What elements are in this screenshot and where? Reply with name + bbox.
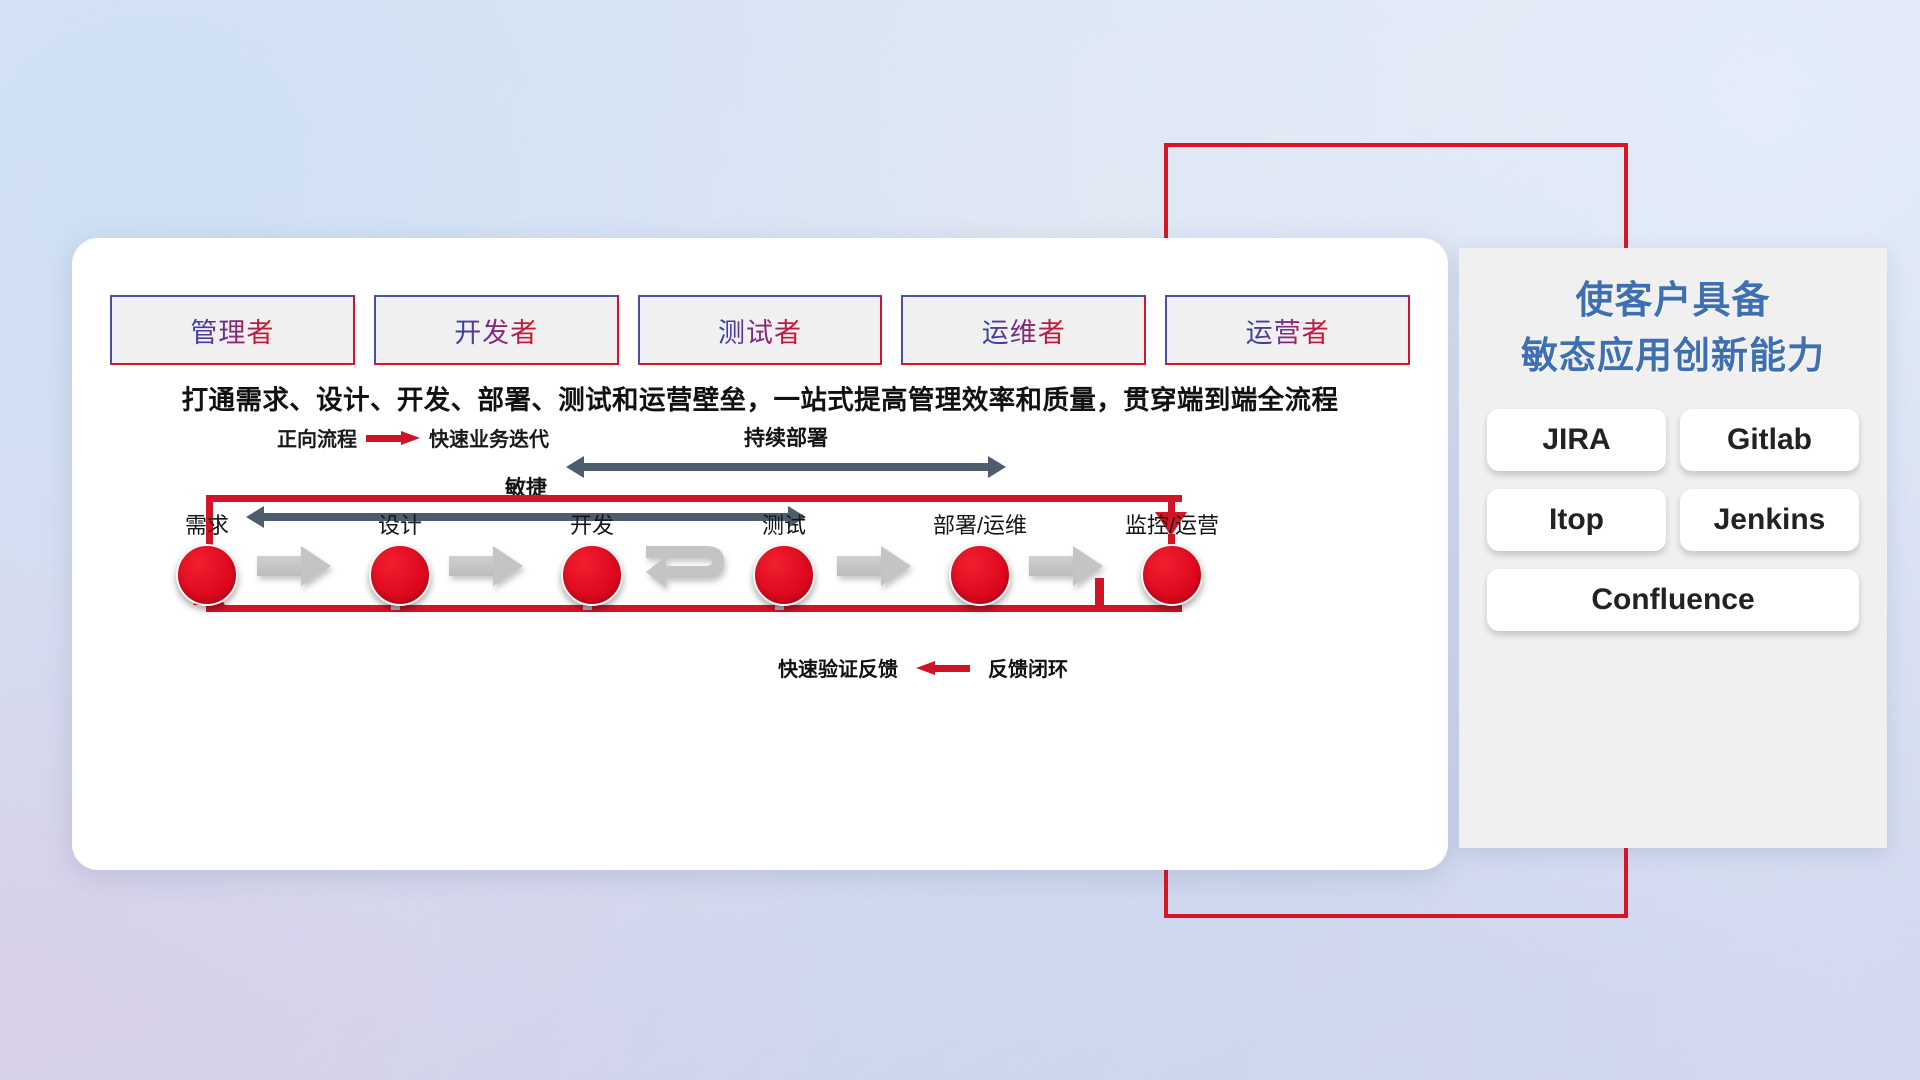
arrow-bar	[582, 463, 990, 471]
stage-label: 设计	[340, 508, 460, 540]
arrow-right-gray-design-to-dev-icon	[449, 546, 523, 586]
arrow-right-red-icon	[366, 431, 420, 445]
stage-dot-icon	[949, 544, 1011, 606]
slide-canvas: 管理者 开发者 测试者 运维者 运营者 打通需求、设计、开发、部署、测试和运营壁…	[0, 0, 1920, 1080]
stage-label: 监控/运营	[1112, 508, 1232, 540]
legend-feedback-loop: 快速验证反馈 反馈闭环	[778, 653, 1068, 682]
loopback-arrow-icon	[644, 536, 736, 598]
role-box-tester[interactable]: 测试者	[638, 295, 883, 365]
continuous-deployment-label: 持续部署	[566, 422, 1006, 452]
right-value-panel: 使客户具备 敏态应用创新能力 JIRA Gitlab Itop Jenkins …	[1459, 248, 1887, 848]
stage-dot-icon	[753, 544, 815, 606]
role-label: 管理者	[190, 311, 274, 350]
right-panel-title-line1: 使客户具备	[1487, 274, 1859, 329]
legend-forward-left-label: 正向流程	[277, 423, 357, 452]
tool-chip-gitlab[interactable]: Gitlab	[1680, 409, 1859, 471]
role-box-ops[interactable]: 运维者	[901, 295, 1146, 365]
legend-forward-right-label: 快速业务迭代	[429, 423, 549, 452]
arrow-right-gray-req-to-design-icon	[257, 546, 331, 586]
arrow-left-red-icon	[916, 661, 970, 675]
roles-row: 管理者 开发者 测试者 运维者 运营者	[110, 295, 1410, 365]
stage-dot-icon	[176, 544, 238, 606]
role-label: 运营者	[1246, 311, 1330, 350]
legend-feedback-left-label: 快速验证反馈	[778, 653, 898, 682]
stage-label: 需求	[147, 508, 267, 540]
role-label: 运维者	[982, 311, 1066, 350]
stage-monitor-operations[interactable]: 监控/运营	[1112, 508, 1232, 606]
stage-design[interactable]: 设计	[340, 508, 460, 606]
stage-dot-icon	[369, 544, 431, 606]
stage-dot-icon	[1141, 544, 1203, 606]
stage-deploy-ops[interactable]: 部署/运维	[920, 508, 1040, 606]
arrow-head-right	[988, 456, 1006, 478]
role-label: 测试者	[718, 311, 802, 350]
stage-testing[interactable]: 测试	[724, 508, 844, 606]
role-box-manager[interactable]: 管理者	[110, 295, 355, 365]
main-diagram-card: 管理者 开发者 测试者 运维者 运营者 打通需求、设计、开发、部署、测试和运营壁…	[72, 238, 1448, 870]
stage-dot-icon	[561, 544, 623, 606]
stage-label: 测试	[724, 508, 844, 540]
role-box-developer[interactable]: 开发者	[374, 295, 619, 365]
legend-forward-flow: 正向流程 快速业务迭代	[277, 423, 549, 452]
right-panel-title-line2: 敏态应用创新能力	[1487, 329, 1859, 383]
arrow-right-gray-deploy-to-monitor-icon	[1029, 546, 1103, 586]
bracket-bottom-segment	[1164, 914, 1628, 918]
right-panel-title: 使客户具备 敏态应用创新能力	[1487, 274, 1859, 383]
stage-development[interactable]: 开发	[532, 508, 652, 606]
bracket-left-upper-segment	[1164, 143, 1168, 253]
stage-requirement[interactable]: 需求	[147, 508, 267, 606]
role-label: 开发者	[454, 311, 538, 350]
tool-chip-confluence[interactable]: Confluence	[1487, 569, 1859, 631]
headline-text: 打通需求、设计、开发、部署、测试和运营壁垒，一站式提高管理效率和质量，贯穿端到端…	[72, 378, 1448, 417]
tool-chip-itop[interactable]: Itop	[1487, 489, 1666, 551]
legend-feedback-right-label: 反馈闭环	[988, 653, 1068, 682]
bracket-top-segment	[1164, 143, 1628, 147]
arrow-right-gray-test-to-deploy-icon	[837, 546, 911, 586]
tools-grid: JIRA Gitlab Itop Jenkins Confluence	[1487, 409, 1859, 631]
tool-chip-jenkins[interactable]: Jenkins	[1680, 489, 1859, 551]
role-box-operations[interactable]: 运营者	[1165, 295, 1410, 365]
stage-label: 部署/运维	[920, 508, 1040, 540]
tool-chip-jira[interactable]: JIRA	[1487, 409, 1666, 471]
stage-label: 开发	[532, 508, 652, 540]
feedback-loop-top-line	[206, 495, 1182, 502]
